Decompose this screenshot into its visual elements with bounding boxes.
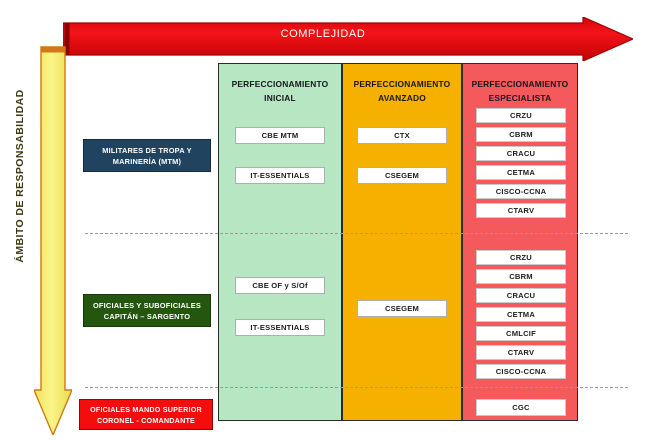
course-chip[interactable]: IT-ESSENTIALS xyxy=(235,167,325,184)
column-header-inicial-line2: INICIAL xyxy=(219,91,341,105)
course-chip[interactable]: CETMA xyxy=(476,307,566,322)
role-label-oficiales-line2: CAPITÁN – SARGENTO xyxy=(104,311,190,322)
role-label-oficiales-line1: OFICIALES Y SUBOFICIALES xyxy=(93,300,201,311)
course-chip[interactable]: IT-ESSENTIALS xyxy=(235,319,325,336)
role-label-militares-tropa-marineria: MILITARES DE TROPA Y MARINERÍA (MTM) xyxy=(83,139,211,172)
course-chip[interactable]: CISCO-CCNA xyxy=(476,184,566,199)
column-perfeccionamiento-inicial: PERFECCIONAMIENTO INICIAL xyxy=(218,63,342,421)
course-chip[interactable]: CBRM xyxy=(476,269,566,284)
column-header-inicial: PERFECCIONAMIENTO INICIAL xyxy=(219,64,341,105)
course-chip[interactable]: CRACU xyxy=(476,146,566,161)
responsibility-arrow xyxy=(34,45,72,435)
column-header-especialista-line1: PERFECCIONAMIENTO xyxy=(472,79,569,89)
course-chip[interactable]: CMLCIF xyxy=(476,326,566,341)
role-label-mtm-line1: MILITARES DE TROPA Y xyxy=(102,145,192,156)
role-label-oficiales-suboficiales: OFICIALES Y SUBOFICIALES CAPITÁN – SARGE… xyxy=(83,294,211,327)
column-header-especialista: PERFECCIONAMIENTO ESPECIALISTA xyxy=(463,64,577,105)
diagram-canvas: COMPLEJIDAD ÁMBITO DE RESPONSABILIDAD PE… xyxy=(0,0,650,440)
course-chip[interactable]: CBE MTM xyxy=(235,127,325,144)
role-label-mando-line1: OFICIALES MANDO SUPERIOR xyxy=(90,404,202,415)
course-chip[interactable]: CRZU xyxy=(476,250,566,265)
role-label-oficiales-mando-superior: OFICIALES MANDO SUPERIOR CORONEL - COMAN… xyxy=(79,399,213,430)
column-header-avanzado-line2: AVANZADO xyxy=(343,91,461,105)
course-chip[interactable]: CTX xyxy=(357,127,447,144)
row-separator xyxy=(85,233,628,234)
course-chip[interactable]: CTARV xyxy=(476,345,566,360)
course-chip[interactable]: CBRM xyxy=(476,127,566,142)
role-label-mando-line2: CORONEL - COMANDANTE xyxy=(97,415,195,426)
column-header-especialista-line2: ESPECIALISTA xyxy=(463,91,577,105)
course-chip[interactable]: CBE OF y S/Of xyxy=(235,277,325,294)
complexity-arrow xyxy=(63,17,633,61)
course-chip[interactable]: CISCO-CCNA xyxy=(476,364,566,379)
course-chip[interactable]: CSEGEM xyxy=(357,167,447,184)
course-chip[interactable]: CRACU xyxy=(476,288,566,303)
column-perfeccionamiento-avanzado: PERFECCIONAMIENTO AVANZADO xyxy=(342,63,462,421)
course-chip[interactable]: CETMA xyxy=(476,165,566,180)
column-header-inicial-line1: PERFECCIONAMIENTO xyxy=(232,79,329,89)
course-chip[interactable]: CRZU xyxy=(476,108,566,123)
course-chip[interactable]: CGC xyxy=(476,399,566,416)
row-separator xyxy=(85,387,628,388)
course-chip[interactable]: CSEGEM xyxy=(357,300,447,317)
column-header-avanzado-line1: PERFECCIONAMIENTO xyxy=(354,79,451,89)
responsibility-axis-label: ÁMBITO DE RESPONSABILIDAD xyxy=(14,21,26,331)
column-header-avanzado: PERFECCIONAMIENTO AVANZADO xyxy=(343,64,461,105)
course-chip[interactable]: CTARV xyxy=(476,203,566,218)
role-label-mtm-line2: MARINERÍA (MTM) xyxy=(113,156,181,167)
